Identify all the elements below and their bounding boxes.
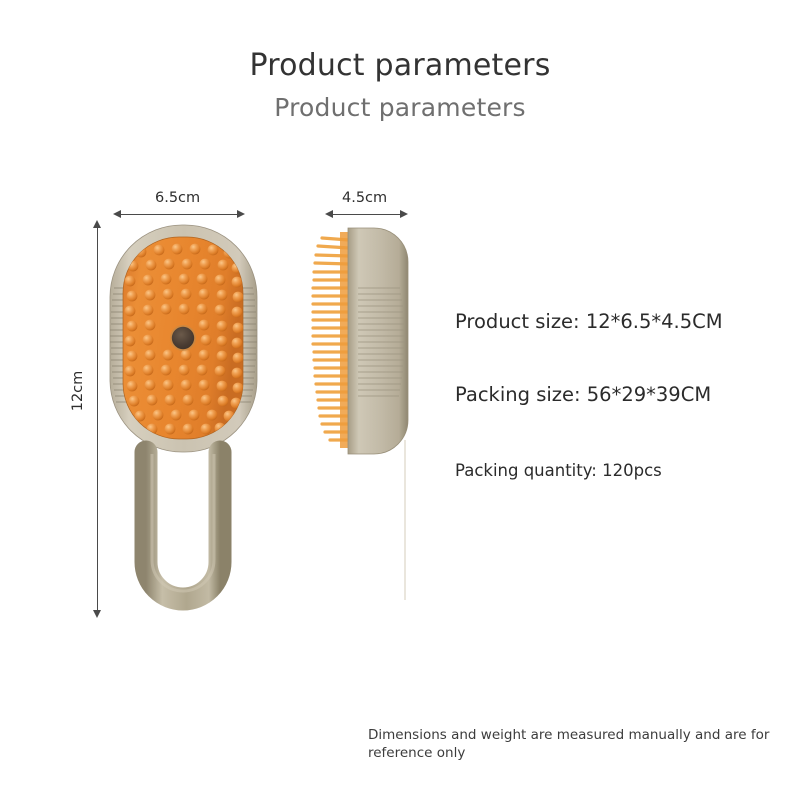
handle-loop (146, 452, 220, 599)
measurement-disclaimer: Dimensions and weight are measured manua… (368, 726, 788, 762)
spec-product-size: Product size: 12*6.5*4.5CM (455, 310, 723, 333)
arrowhead-right (400, 210, 408, 218)
arrow-shaft (329, 214, 404, 215)
front-view-brush (110, 225, 257, 599)
dimension-arrow-front-width (113, 210, 245, 219)
side-view-brush (313, 228, 409, 604)
arrow-shaft (117, 214, 241, 215)
arrowhead-right (237, 210, 245, 218)
dimension-arrow-side-width (325, 210, 408, 219)
side-body (348, 228, 408, 454)
dimension-label-front-width: 6.5cm (155, 190, 200, 206)
spec-packing-quantity: Packing quantity: 120pcs (455, 461, 662, 480)
arrow-shaft (97, 224, 98, 614)
product-parameters-page: Product parameters Product parameters (0, 0, 800, 800)
dimension-label-side-width: 4.5cm (342, 190, 387, 206)
side-handle-bar (405, 432, 409, 604)
arrowhead-bottom (93, 610, 101, 618)
dimension-arrow-front-height (93, 220, 102, 618)
spec-packing-size: Packing size: 56*29*39CM (455, 383, 711, 406)
dimension-label-front-height: 12cm (70, 369, 86, 413)
